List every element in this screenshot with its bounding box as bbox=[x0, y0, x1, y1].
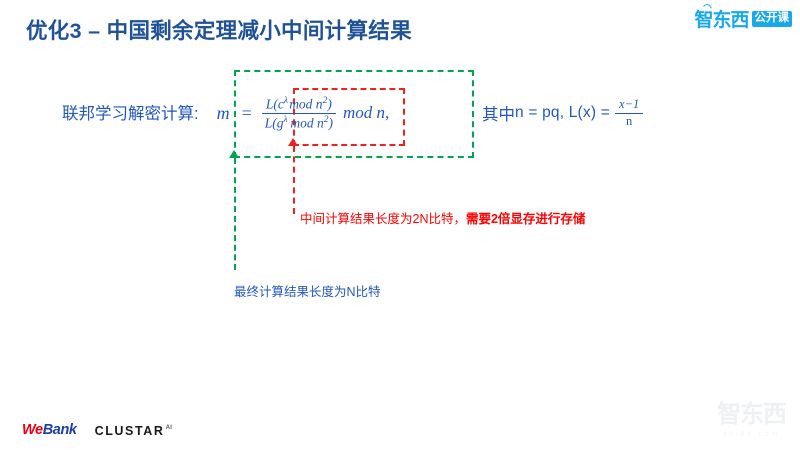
brand-logo: 智东西 公开课 bbox=[694, 8, 792, 30]
formula-mod-suffix: mod n, bbox=[343, 103, 389, 123]
formula-numerator: L(cλ mod n2) bbox=[263, 96, 335, 113]
red-arrow-up-icon bbox=[288, 138, 298, 146]
webank-logo: WeBank bbox=[22, 423, 77, 438]
where-label-cn: 其中 bbox=[482, 101, 515, 125]
blue-annotation-text: 最终计算结果长度为N比特 bbox=[234, 281, 381, 300]
clustar-logo-name: CLUSTAR bbox=[95, 425, 165, 438]
where-fraction-denominator: n bbox=[622, 114, 636, 129]
formula-where-clause: 其中 n = pq, L(x) = x−1 n bbox=[482, 98, 643, 129]
webank-logo-we: We bbox=[22, 422, 43, 438]
footer-logo-group: WeBank CLUSTAR AI bbox=[22, 423, 172, 438]
red-annotation-bold: 需要2倍显存进行存储 bbox=[466, 212, 585, 226]
formula-fraction: L(cλ mod n2) L(gλ mod n2) bbox=[262, 96, 336, 131]
slide-canvas: 优化3 – 中国剩余定理减小中间计算结果 智东西 公开课 联邦学习解密计算: m… bbox=[0, 0, 800, 450]
red-annotation-plain: 中间计算结果长度为2N比特， bbox=[300, 212, 466, 226]
watermark: 智东西 zhidx.com bbox=[717, 403, 786, 438]
formula-expression: 联邦学习解密计算: m = L(cλ mod n2) L(gλ mod n2) … bbox=[62, 96, 389, 131]
clustar-logo-ai: AI bbox=[166, 425, 173, 431]
where-definition: n = pq, L(x) = bbox=[515, 104, 610, 122]
clustar-logo: CLUSTAR AI bbox=[95, 425, 173, 438]
where-fraction-numerator: x−1 bbox=[615, 98, 643, 113]
green-arrow-up-icon bbox=[229, 150, 239, 158]
formula-equals-sign: = bbox=[242, 103, 252, 124]
green-callout-stem bbox=[234, 158, 236, 270]
red-callout-stem bbox=[293, 146, 295, 214]
brand-wordmark: 智东西 bbox=[694, 8, 748, 30]
formula-lead-label: 联邦学习解密计算: bbox=[62, 100, 199, 126]
where-fraction: x−1 n bbox=[615, 98, 643, 129]
webank-logo-bank: Bank bbox=[43, 422, 77, 438]
page-title: 优化3 – 中国剩余定理减小中间计算结果 bbox=[26, 14, 412, 45]
formula-variable-m: m bbox=[217, 103, 230, 124]
watermark-wordmark: 智东西 bbox=[717, 403, 786, 427]
wifi-antenna-icon bbox=[701, 4, 713, 14]
red-annotation-text: 中间计算结果长度为2N比特，需要2倍显存进行存储 bbox=[300, 208, 585, 227]
formula-denominator: L(gλ mod n2) bbox=[262, 114, 336, 131]
brand-badge: 公开课 bbox=[752, 11, 793, 28]
watermark-url: zhidx.com bbox=[717, 429, 786, 438]
